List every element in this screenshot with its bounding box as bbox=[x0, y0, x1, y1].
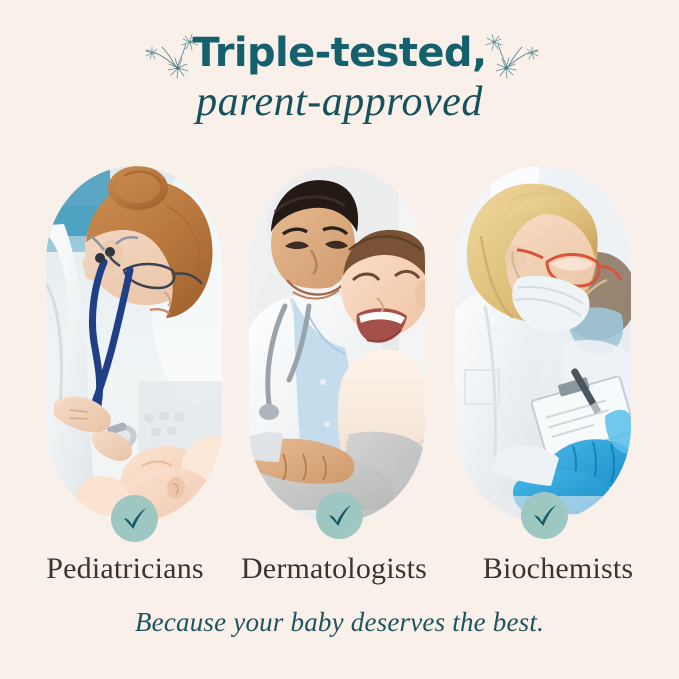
photo-pediatrician bbox=[46, 166, 222, 522]
promo-banner: Triple-tested, parent-approved bbox=[0, 0, 679, 679]
label-dermatologists: Dermatologists bbox=[219, 552, 449, 586]
panel-dermatologists[interactable] bbox=[249, 166, 425, 522]
checkmark-icon bbox=[531, 503, 559, 529]
tagline: Because your baby deserves the best. bbox=[0, 607, 679, 638]
checkmark-icon bbox=[326, 503, 354, 529]
photo-biochemist bbox=[455, 166, 631, 522]
check-badge-pediatricians bbox=[111, 495, 158, 542]
headline-primary: Triple-tested, bbox=[0, 33, 679, 73]
check-badge-biochemists bbox=[521, 492, 568, 539]
photo-dermatologist bbox=[249, 166, 425, 522]
floral-sprig-icon bbox=[468, 34, 542, 90]
label-biochemists: Biochemists bbox=[443, 552, 673, 586]
header: Triple-tested, parent-approved bbox=[0, 0, 679, 150]
panel-pediatricians[interactable] bbox=[46, 166, 222, 522]
check-badge-dermatologists bbox=[316, 492, 363, 539]
panel-biochemists[interactable] bbox=[455, 166, 631, 522]
headline-secondary: parent-approved bbox=[0, 80, 679, 124]
label-row: Pediatricians Dermatologists Biochemists bbox=[0, 552, 679, 600]
label-pediatricians: Pediatricians bbox=[10, 552, 240, 586]
checkmark-icon bbox=[121, 506, 149, 532]
panel-row bbox=[0, 166, 679, 526]
